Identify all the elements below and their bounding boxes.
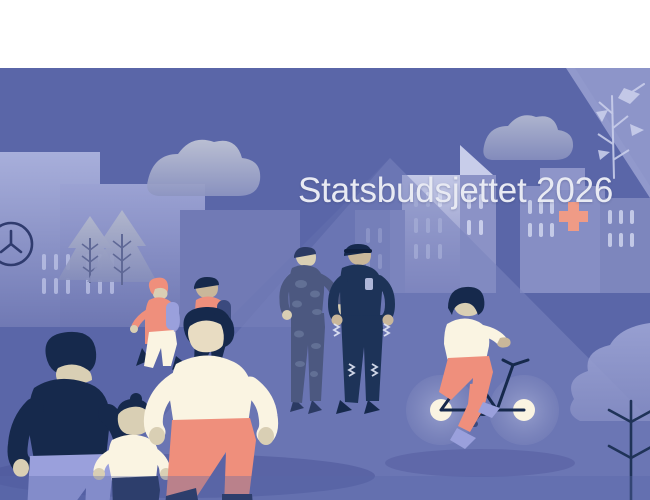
hero-illustration: Statsbudsjettet 2026 bbox=[0, 68, 650, 500]
page-root: Statsbudsjettet 2026 bbox=[0, 0, 650, 500]
top-white-band bbox=[0, 0, 650, 68]
ground-fade bbox=[0, 476, 650, 500]
ground-shadow-cyclist bbox=[385, 449, 575, 477]
page-title: Statsbudsjettet 2026 bbox=[298, 171, 613, 211]
scene-illustration bbox=[0, 68, 650, 500]
